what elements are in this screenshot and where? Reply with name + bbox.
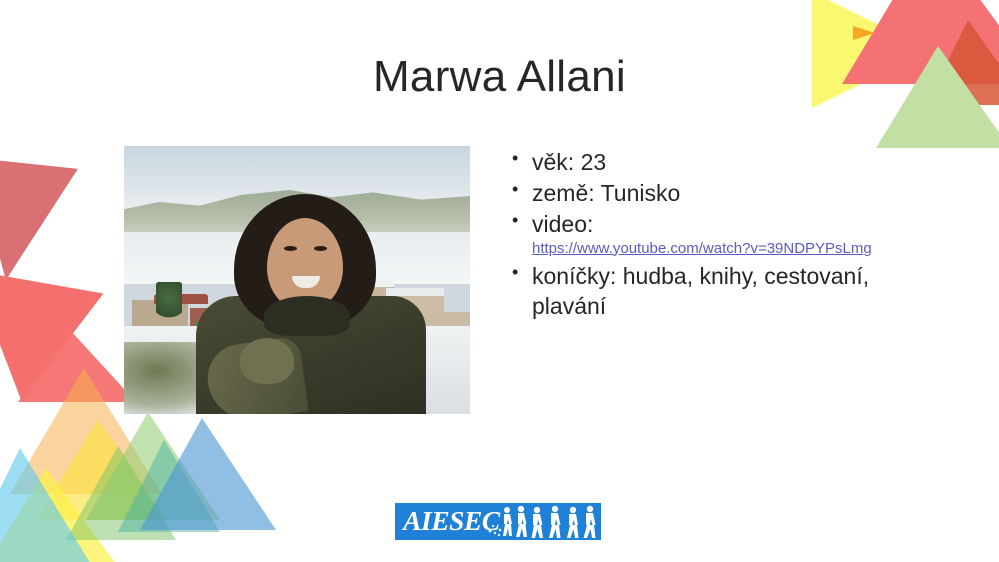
- triangle-blue-bottom-left: [140, 418, 276, 530]
- aiesec-wordmark: AIESEC: [394, 508, 500, 535]
- portrait-photo: [124, 146, 470, 414]
- triangle-cyan-bottom-left: [0, 448, 92, 562]
- walking-people-icon: [487, 504, 599, 539]
- photo-tree: [156, 282, 182, 322]
- triangle-yellow-bottom-left-2: [0, 468, 116, 562]
- bullet-item-country: země: Tunisko: [510, 179, 940, 209]
- aiesec-logo: AIESEC: [395, 503, 601, 540]
- slide-canvas: Marwa Allani věk: 23 země: Tunisko video…: [0, 0, 999, 562]
- photo-person-hand: [240, 338, 294, 384]
- triangle-pink-bottom-left: [18, 330, 136, 402]
- triangle-red-left-upper: [0, 158, 78, 286]
- bullet-item-age: věk: 23: [510, 148, 940, 178]
- bullet-list: věk: 23 země: Tunisko video: https://www…: [510, 148, 940, 323]
- bullet-item-video: video:: [510, 210, 940, 240]
- photo-person-collar: [264, 296, 350, 336]
- triangle-teal-bottom-left: [118, 440, 220, 532]
- triangle-orange-top-right: [853, 26, 875, 40]
- video-url-link[interactable]: https://www.youtube.com/watch?v=39NDPYPs…: [510, 239, 940, 259]
- triangle-green-bottom-left: [86, 412, 220, 520]
- triangle-yellow-bottom-left: [36, 420, 168, 520]
- photo-person-eye-right: [314, 246, 327, 251]
- bullet-item-hobbies: koníčky: hudba, knihy, cestovaní, plaván…: [510, 262, 940, 322]
- photo-person-eye-left: [284, 246, 297, 251]
- triangle-green-bottom-left-2: [66, 446, 176, 540]
- page-title: Marwa Allani: [0, 52, 999, 102]
- triangle-red-left-lower: [0, 270, 103, 411]
